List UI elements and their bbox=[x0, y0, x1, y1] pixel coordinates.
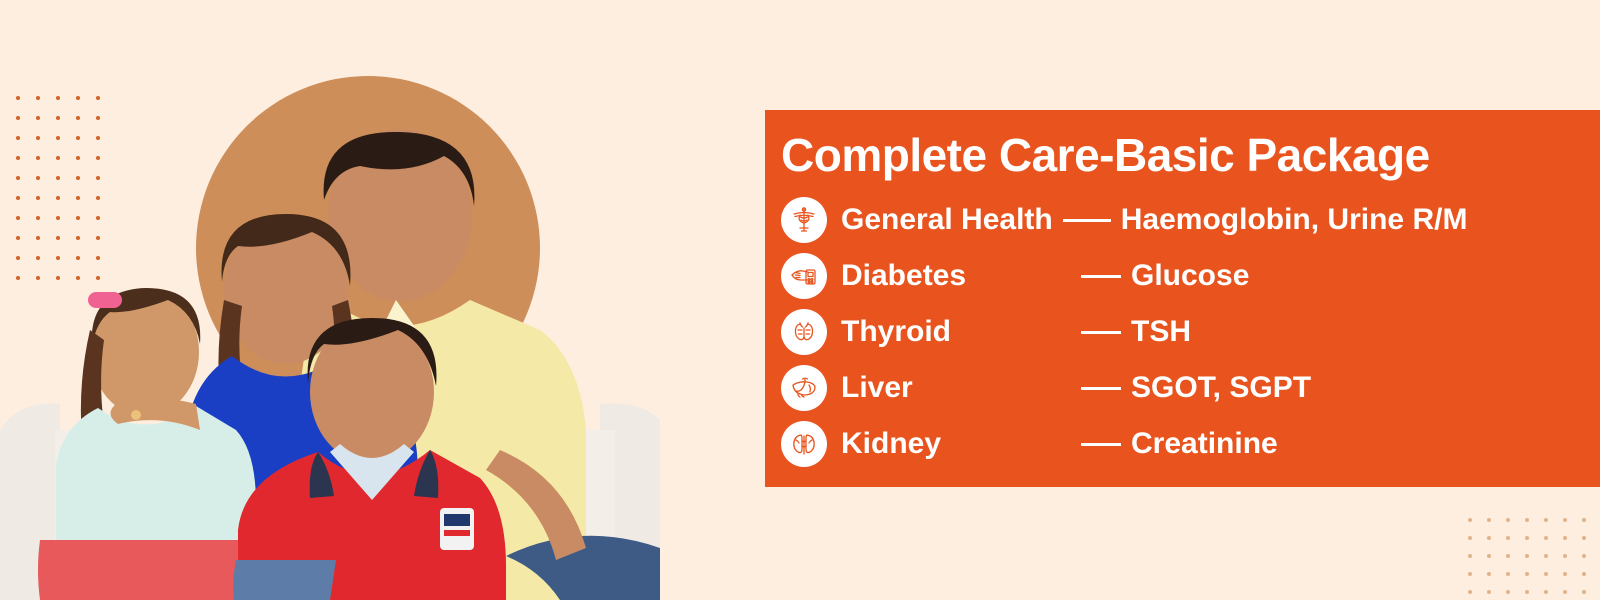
decorative-dot bbox=[1525, 518, 1529, 522]
package-label: Kidney bbox=[841, 427, 1071, 461]
decorative-dot bbox=[1563, 536, 1567, 540]
package-title: Complete Care-Basic Package bbox=[781, 126, 1600, 184]
package-value: SGOT, SGPT bbox=[1131, 371, 1311, 405]
health-package-banner: Complete Care-Basic Package bbox=[0, 0, 1600, 600]
liver-icon bbox=[781, 365, 827, 411]
decorative-dot bbox=[1468, 536, 1472, 540]
thyroid-icon bbox=[781, 309, 827, 355]
decorative-dot bbox=[1468, 590, 1472, 594]
kidney-icon bbox=[781, 421, 827, 467]
decorative-dot bbox=[1544, 518, 1548, 522]
family-photo-area bbox=[0, 0, 670, 600]
decorative-dot bbox=[1506, 572, 1510, 576]
family-photo bbox=[0, 0, 670, 600]
package-row-diabetes: Diabetes Glucose bbox=[781, 248, 1600, 304]
package-row-general-health: General Health Haemoglobin, Urine R/M bbox=[781, 192, 1600, 248]
package-row-liver: Liver SGOT, SGPT bbox=[781, 360, 1600, 416]
package-value: Haemoglobin, Urine R/M bbox=[1121, 203, 1468, 237]
package-value: Creatinine bbox=[1131, 427, 1278, 461]
decorative-dot bbox=[1563, 554, 1567, 558]
package-value: TSH bbox=[1131, 315, 1191, 349]
decorative-dot bbox=[1544, 554, 1548, 558]
decorative-dot bbox=[1468, 554, 1472, 558]
row-dash bbox=[1081, 387, 1121, 390]
decorative-dot bbox=[1487, 590, 1491, 594]
decorative-dot bbox=[1563, 518, 1567, 522]
decorative-dot bbox=[1506, 590, 1510, 594]
decorative-dot bbox=[1525, 572, 1529, 576]
decorative-dot bbox=[1525, 536, 1529, 540]
decorative-dot-grid-bottom-right bbox=[1468, 518, 1600, 600]
decorative-dot bbox=[1563, 590, 1567, 594]
decorative-dot bbox=[1525, 554, 1529, 558]
decorative-dot bbox=[1582, 572, 1586, 576]
decorative-dot bbox=[1525, 590, 1529, 594]
row-dash bbox=[1081, 275, 1121, 278]
decorative-dot bbox=[1544, 536, 1548, 540]
package-label: Thyroid bbox=[841, 315, 1071, 349]
decorative-dot bbox=[1487, 554, 1491, 558]
decorative-dot bbox=[1468, 518, 1472, 522]
decorative-dot bbox=[1487, 518, 1491, 522]
row-dash bbox=[1063, 219, 1111, 222]
caduceus-icon bbox=[781, 197, 827, 243]
decorative-dot bbox=[1582, 554, 1586, 558]
decorative-dot bbox=[1506, 536, 1510, 540]
package-row-kidney: Kidney Creatinine bbox=[781, 416, 1600, 472]
decorative-dot bbox=[1487, 572, 1491, 576]
row-dash bbox=[1081, 331, 1121, 334]
decorative-dot bbox=[1582, 536, 1586, 540]
decorative-dot bbox=[1582, 518, 1586, 522]
package-label: Liver bbox=[841, 371, 1071, 405]
decorative-dot bbox=[1544, 590, 1548, 594]
package-label: Diabetes bbox=[841, 259, 1071, 293]
decorative-dot bbox=[1506, 554, 1510, 558]
decorative-dot bbox=[1468, 572, 1472, 576]
package-value: Glucose bbox=[1131, 259, 1249, 293]
package-label: General Health bbox=[841, 203, 1053, 237]
package-panel: Complete Care-Basic Package bbox=[765, 110, 1600, 487]
decorative-dot bbox=[1506, 518, 1510, 522]
package-row-thyroid: Thyroid TSH bbox=[781, 304, 1600, 360]
decorative-dot bbox=[1582, 590, 1586, 594]
decorative-dot bbox=[1544, 572, 1548, 576]
decorative-dot bbox=[1487, 536, 1491, 540]
decorative-dot bbox=[1563, 572, 1567, 576]
row-dash bbox=[1081, 443, 1121, 446]
glucometer-icon bbox=[781, 253, 827, 299]
